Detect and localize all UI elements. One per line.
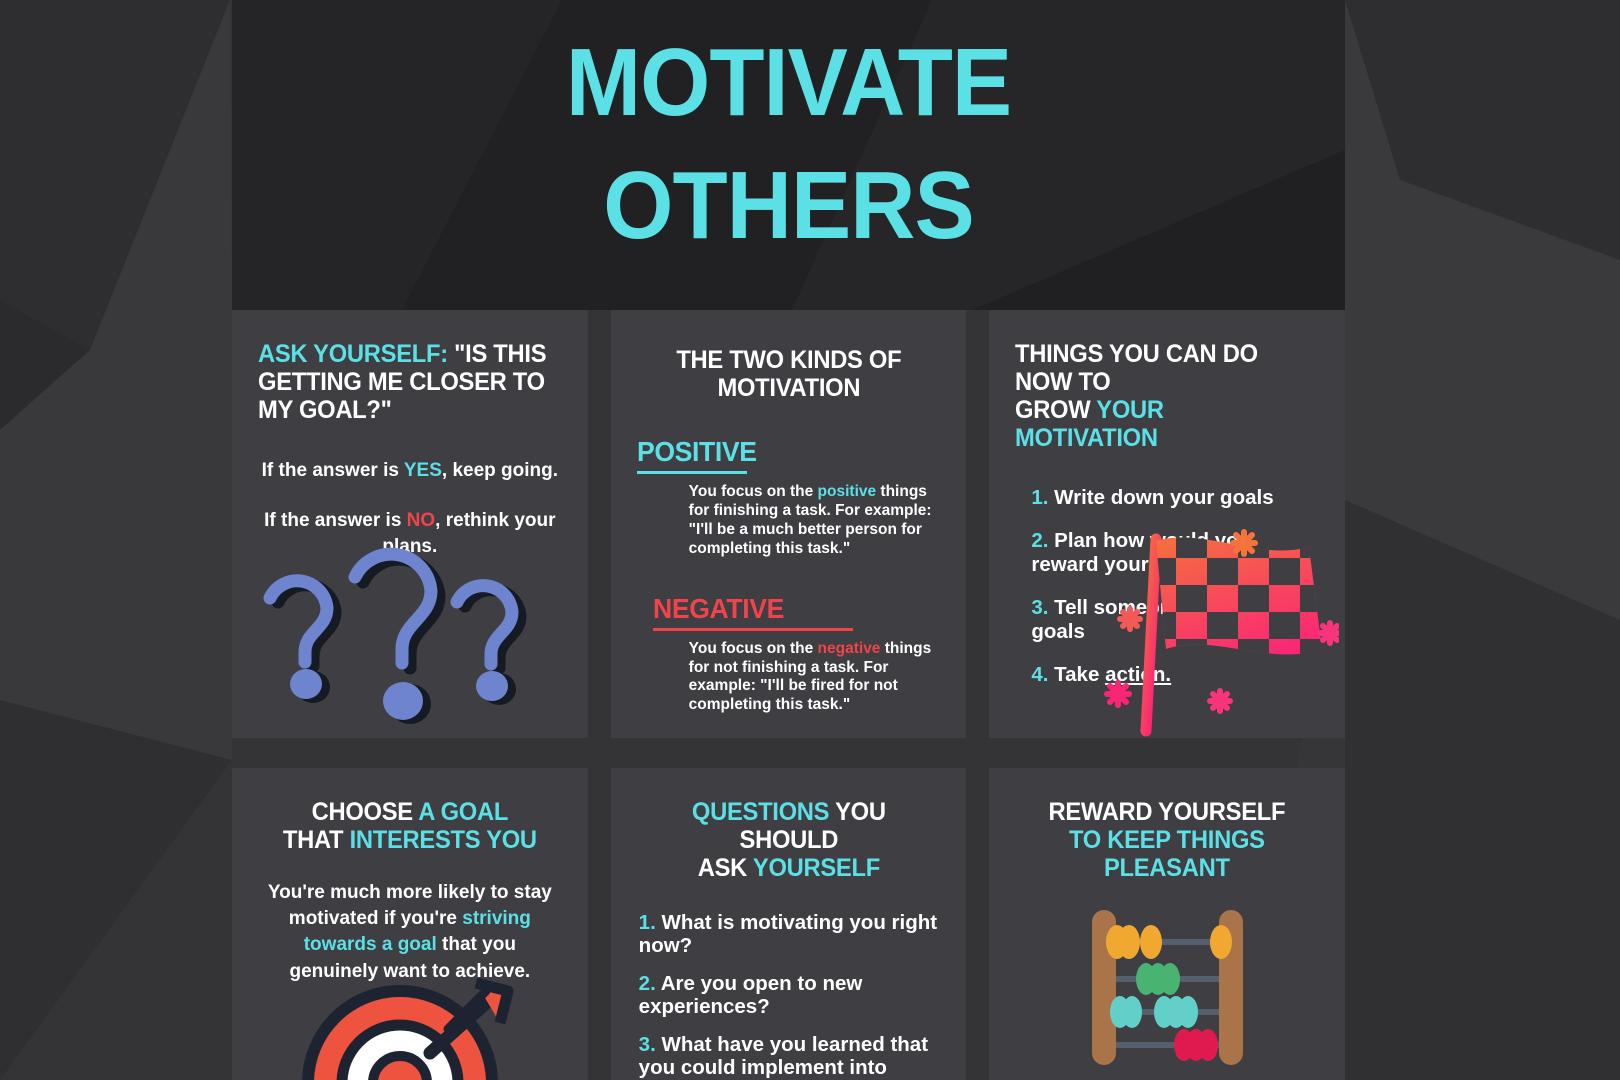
- reward-heading-l2: TO KEEP THINGS PLEASANT: [1069, 826, 1265, 882]
- item-number: 3.: [639, 1033, 656, 1056]
- questions-heading-l2-white: ASK: [697, 854, 752, 882]
- item-number: 1.: [639, 911, 656, 934]
- negative-label: NEGATIVE: [653, 593, 784, 625]
- panel-grid: ASK YOURSELF: "IS THIS GETTING ME CLOSER…: [232, 310, 1345, 1080]
- title-line-2: OTHERS: [265, 145, 1311, 268]
- header-banner: MOTIVATE OTHERS: [232, 0, 1345, 310]
- three-question-marks-icon: [260, 544, 560, 729]
- panel-reward-yourself: REWARD YOURSELF TO KEEP THINGS PLEASANT: [989, 768, 1345, 1080]
- answer-yes-post: , keep going.: [442, 460, 558, 481]
- positive-body-pre: You focus on the: [689, 483, 818, 500]
- panel-row-2: CHOOSE A GOAL THAT INTERESTS YOU You're …: [232, 768, 1345, 1080]
- panel-grow-heading: THINGS YOU CAN DO NOW TO GROW YOUR MOTIV…: [1015, 340, 1303, 452]
- item-number: 2.: [1031, 529, 1048, 552]
- answer-yes-pre: If the answer is: [262, 460, 404, 481]
- item-number: 3.: [1031, 596, 1048, 619]
- panel-row-1: ASK YOURSELF: "IS THIS GETTING ME CLOSER…: [232, 310, 1345, 738]
- checkered-race-flag-icon: [1094, 521, 1339, 738]
- choose-heading-l2-white: THAT: [283, 826, 350, 854]
- negative-body-pre: You focus on the: [689, 640, 818, 657]
- item-number: 2.: [639, 972, 656, 995]
- panel-two-kinds-heading: THE TWO KINDS OF MOTIVATION: [644, 346, 932, 402]
- questions-heading-l2-accent: YOURSELF: [753, 854, 880, 882]
- choose-heading-l1-white: CHOOSE: [312, 798, 419, 826]
- positive-rule: [637, 471, 747, 474]
- choose-heading-l2-accent: INTERESTS YOU: [350, 826, 537, 854]
- item-text: What have you learned that you could imp…: [639, 1033, 928, 1080]
- negative-body: You focus on the negative things for not…: [689, 640, 941, 716]
- choose-heading-l1-accent: A GOAL: [418, 798, 508, 826]
- positive-body: You focus on the positive things for fin…: [689, 483, 941, 559]
- negative-body-word: negative: [818, 640, 881, 657]
- item-text: Write down your goals: [1054, 486, 1273, 509]
- panel-choose-goal-heading: CHOOSE A GOAL THAT INTERESTS YOU: [266, 798, 554, 854]
- target-illustration: [232, 965, 588, 1080]
- panel-choose-a-goal: CHOOSE A GOAL THAT INTERESTS YOU You're …: [232, 768, 588, 1080]
- panel-reward-heading: REWARD YOURSELF TO KEEP THINGS PLEASANT: [1023, 798, 1311, 882]
- panel-two-kinds-of-motivation: THE TWO KINDS OF MOTIVATION POSITIVE You…: [611, 310, 967, 738]
- answer-no-pre: If the answer is: [264, 510, 407, 531]
- item-number: 4.: [1031, 663, 1048, 686]
- question-marks-illustration: [232, 544, 588, 734]
- item-text: Are you open to new experiences?: [639, 972, 863, 1018]
- list-item: 2. Are you open to new experiences?: [639, 973, 941, 1018]
- list-item: 1. Write down your goals: [1031, 486, 1319, 510]
- abacus-icon: [1080, 900, 1255, 1068]
- negative-block: NEGATIVE You focus on the negative thing…: [637, 593, 941, 716]
- answer-yes-word: YES: [404, 460, 442, 481]
- questions-list: 1. What is motivating you right now? 2. …: [637, 912, 941, 1080]
- negative-rule: [653, 628, 853, 631]
- page-title: MOTIVATE OTHERS: [265, 0, 1311, 268]
- positive-label: POSITIVE: [637, 436, 757, 468]
- panel-questions-ask-yourself: QUESTIONS YOU SHOULD ASK YOURSELF 1. Wha…: [611, 768, 967, 1080]
- grow-heading-line1: THINGS YOU CAN DO NOW TO: [1015, 340, 1258, 396]
- item-text: What is motivating you right now?: [639, 911, 937, 957]
- reward-heading-l1: REWARD YOURSELF: [1049, 798, 1286, 826]
- list-item: 3. What have you learned that you could …: [639, 1034, 941, 1080]
- list-item: 1. What is motivating you right now?: [639, 912, 941, 957]
- title-line-1: MOTIVATE: [265, 22, 1311, 145]
- panel-ask-yourself-heading: ASK YOURSELF: "IS THIS GETTING ME CLOSER…: [258, 340, 546, 424]
- questions-heading-l1-accent: QUESTIONS: [692, 798, 829, 826]
- panel-questions-heading: QUESTIONS YOU SHOULD ASK YOURSELF: [644, 798, 932, 882]
- race-flag-illustration: [1094, 521, 1339, 738]
- target-with-arrow-icon: [280, 965, 540, 1080]
- answer-no-word: NO: [407, 510, 436, 531]
- grow-heading-line2-white: GROW: [1015, 396, 1096, 424]
- positive-block: POSITIVE You focus on the positive thing…: [637, 436, 941, 559]
- abacus-illustration: [1015, 900, 1319, 1073]
- panel-ask-yourself: ASK YOURSELF: "IS THIS GETTING ME CLOSER…: [232, 310, 588, 738]
- panel-grow-your-motivation: THINGS YOU CAN DO NOW TO GROW YOUR MOTIV…: [989, 310, 1345, 738]
- positive-body-word: positive: [818, 483, 877, 500]
- heading-accent: ASK YOURSELF:: [258, 340, 448, 368]
- item-number: 1.: [1031, 486, 1048, 509]
- answer-yes-line: If the answer is YES, keep going.: [258, 458, 562, 484]
